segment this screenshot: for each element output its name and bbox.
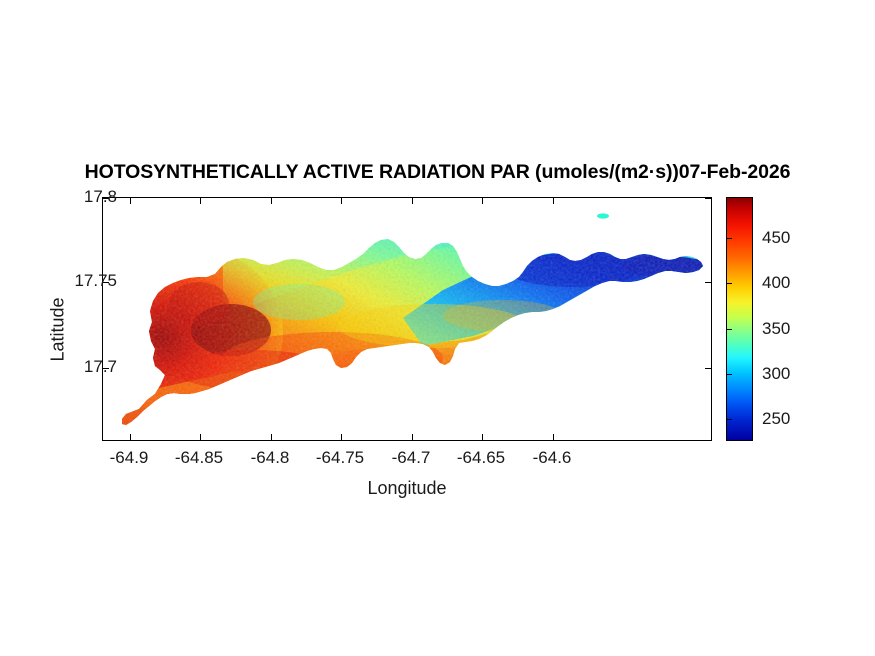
colorbar-tick-300: [726, 374, 732, 375]
par-heatmap-raster: [103, 198, 712, 441]
xticklabel-4: -64.7: [392, 448, 431, 468]
ytick-right: [705, 368, 711, 369]
xtick-top: [341, 198, 342, 204]
yticklabel-2: 17.8: [84, 187, 117, 207]
yticklabel-1: 17.75: [74, 271, 117, 291]
buck-island-speck: [593, 210, 613, 222]
colorbar-label-250: 250: [762, 409, 790, 429]
xtick: [271, 434, 272, 440]
figure-title: HOTOSYNTHETICALLY ACTIVE RADIATION PAR (…: [0, 161, 875, 184]
island-raster-body: [103, 198, 712, 441]
xtick: [482, 434, 483, 440]
colorbar-tick-400: [726, 283, 732, 284]
xticklabel-0: -64.9: [110, 448, 149, 468]
xtick-top: [200, 198, 201, 204]
xtick: [412, 434, 413, 440]
colorbar-tick-250: [726, 419, 732, 420]
ytick-right: [705, 198, 711, 199]
xticklabel-5: -64.65: [457, 448, 505, 468]
xticklabel-6: -64.6: [533, 448, 572, 468]
yticklabel-0: 17.7: [84, 357, 117, 377]
matlab-figure: HOTOSYNTHETICALLY ACTIVE RADIATION PAR (…: [0, 0, 875, 656]
colorbar-tick-350: [726, 329, 732, 330]
xtick-top: [553, 198, 554, 204]
xtick-top: [271, 198, 272, 204]
ytick-right: [705, 282, 711, 283]
xticklabel-2: -64.8: [251, 448, 290, 468]
xtick: [341, 434, 342, 440]
xticklabel-1: -64.85: [175, 448, 223, 468]
xticklabel-3: -64.75: [316, 448, 364, 468]
raster-noise-2: [103, 198, 712, 441]
xtick-top: [412, 198, 413, 204]
xtick-top: [130, 198, 131, 204]
par-colorbar: [726, 197, 753, 441]
xtick: [130, 434, 131, 440]
xtick: [553, 434, 554, 440]
xtick-top: [482, 198, 483, 204]
x-axis-label: Longitude: [102, 478, 712, 499]
colorbar-label-450: 450: [762, 228, 790, 248]
colorbar-label-300: 300: [762, 364, 790, 384]
y-axis-label: Latitude: [48, 250, 69, 410]
colorbar-label-400: 400: [762, 273, 790, 293]
colorbar-label-350: 350: [762, 319, 790, 339]
colorbar-tick-450: [726, 238, 732, 239]
xtick: [200, 434, 201, 440]
map-axes: [102, 197, 712, 441]
